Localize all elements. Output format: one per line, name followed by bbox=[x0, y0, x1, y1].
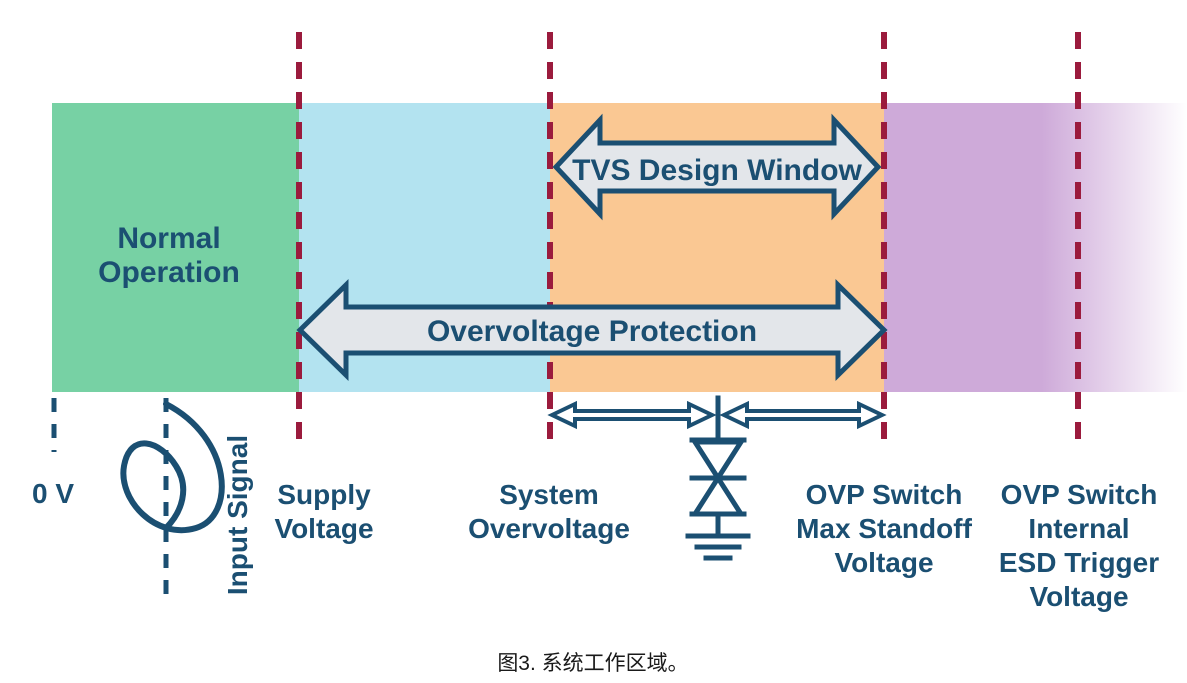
tvs-design-window-label: TVS Design Window bbox=[572, 154, 862, 187]
tvs-lower-triangle bbox=[695, 478, 741, 514]
axis-label-ovp-esd-trigger-line1: OVP Switch bbox=[1001, 479, 1158, 510]
figure-root: TVS Design Window Overvoltage Protection… bbox=[0, 0, 1187, 683]
region-label-normal-operation-line2: Operation bbox=[98, 256, 240, 289]
axis-label-ovp-esd-trigger-line3: ESD Trigger bbox=[999, 547, 1159, 578]
axis-label-ovp-max-standoff-line2: Max Standoff bbox=[796, 513, 972, 544]
axis-label-ovp-esd-trigger-line4: Voltage bbox=[1029, 581, 1128, 612]
axis-label-ovp-max-standoff-line3: Voltage bbox=[834, 547, 933, 578]
axis-label-supply-voltage-line2: Voltage bbox=[274, 513, 373, 544]
overvoltage-protection-label: Overvoltage Protection bbox=[427, 315, 757, 348]
tvs-right-span-arrow bbox=[724, 404, 882, 426]
band-esd-range bbox=[884, 103, 1187, 392]
input-waveform-sine-icon bbox=[123, 404, 221, 530]
axis-label-supply-voltage-line1: Supply bbox=[277, 479, 371, 510]
region-label-normal-operation-line1: Normal bbox=[117, 222, 220, 255]
axis-label-input-signal: Input Signal bbox=[222, 435, 253, 595]
tvs-left-span-arrow bbox=[552, 404, 712, 426]
system-operating-regions-diagram: TVS Design Window Overvoltage Protection… bbox=[0, 0, 1187, 683]
axis-label-zero-volts: 0 V bbox=[32, 478, 74, 509]
axis-label-ovp-esd-trigger-line2: Internal bbox=[1028, 513, 1129, 544]
tvs-upper-triangle bbox=[695, 442, 741, 478]
figure-caption: 图3. 系统工作区域。 bbox=[497, 652, 688, 675]
axis-label-system-overvoltage-line2: Overvoltage bbox=[468, 513, 630, 544]
axis-label-system-overvoltage-line1: System bbox=[499, 479, 599, 510]
axis-label-ovp-max-standoff-line1: OVP Switch bbox=[806, 479, 963, 510]
